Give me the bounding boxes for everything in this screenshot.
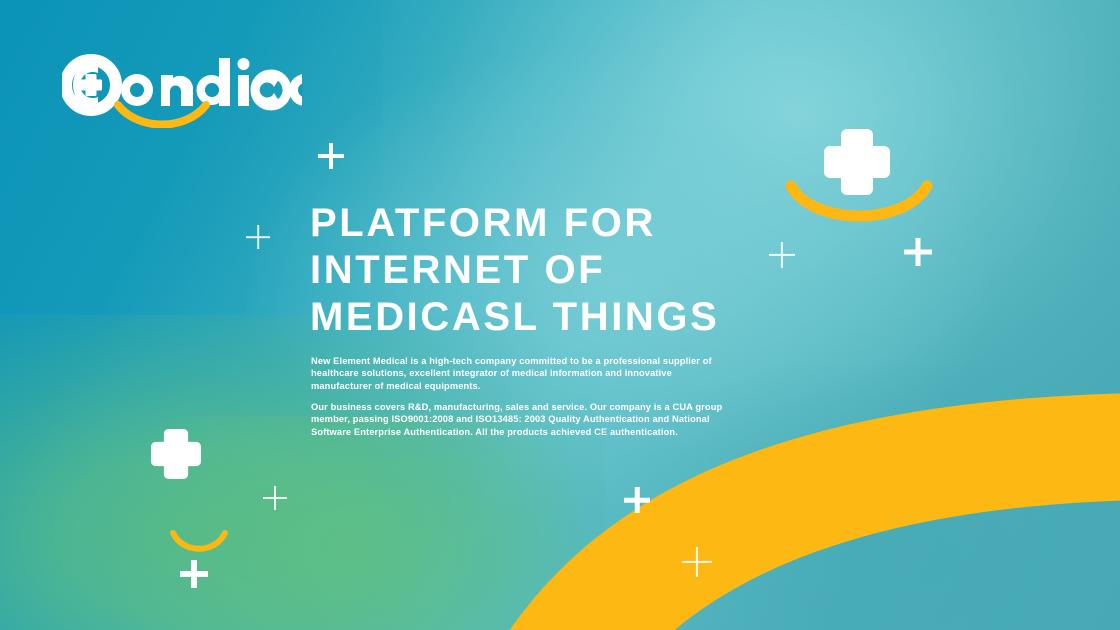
hero-paragraph-1: New Element Medical is a high-tech compa… xyxy=(311,355,727,392)
condical-logo-svg xyxy=(62,52,302,128)
brand-logo[interactable] xyxy=(62,52,302,128)
logo-smile-icon xyxy=(118,105,206,125)
logo-wordmark xyxy=(121,58,302,106)
background-green-blob-2 xyxy=(112,416,582,630)
hero-paragraph-2: Our business covers R&D, manufacturing, … xyxy=(311,401,727,438)
slide-canvas: PLATFORM FOR INTERNET OF MEDICASL THINGS… xyxy=(0,0,1120,630)
page-title: PLATFORM FOR INTERNET OF MEDICASL THINGS xyxy=(310,200,770,341)
